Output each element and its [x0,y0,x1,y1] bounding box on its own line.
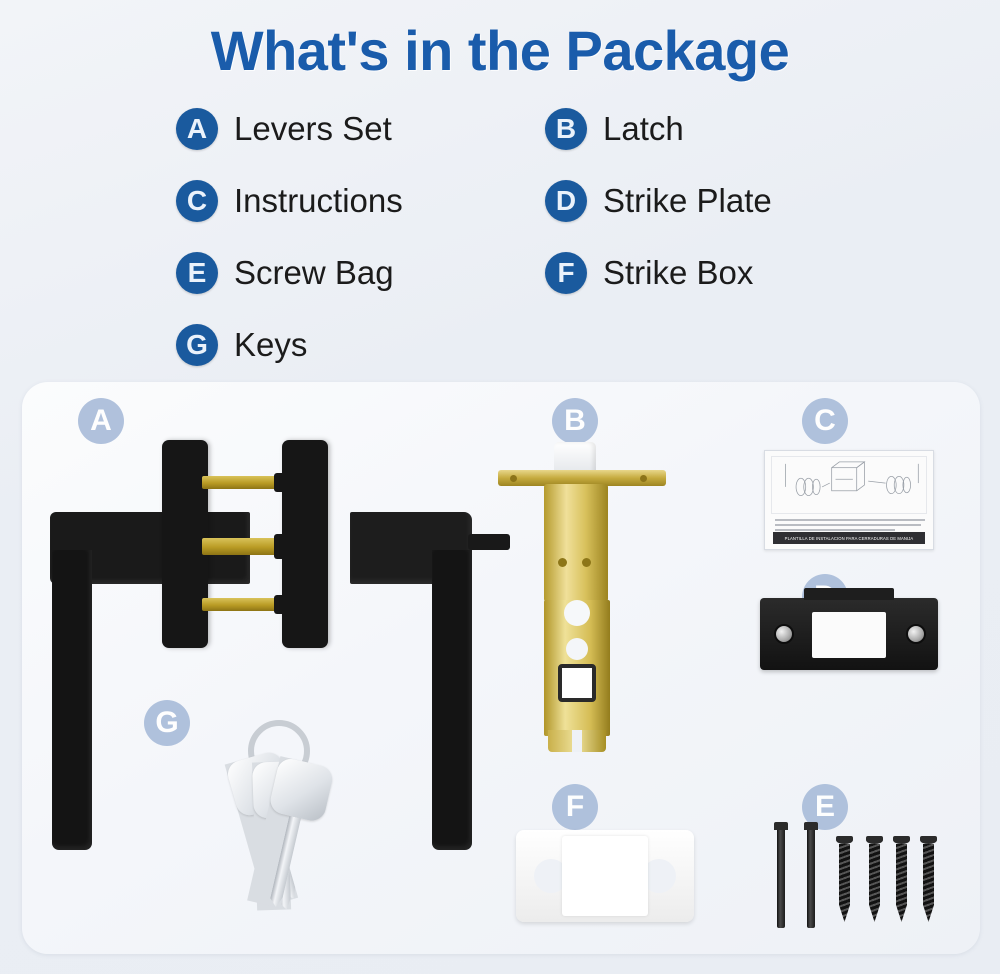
wood-screw-shaft [923,844,934,922]
legend-badge-c: C [176,180,218,222]
machine-screw-head [774,822,788,830]
wood-screw-head [920,836,937,844]
photo-marker-a: A [78,398,124,444]
instructions-text-line-2 [775,524,921,526]
wood-screw-head [836,836,853,844]
legend-label-levers-set: Levers Set [234,110,392,148]
wood-screw-shaft [869,844,880,922]
legend-badge-b: B [545,108,587,150]
product-keys [190,720,370,900]
legend-badge-d: D [545,180,587,222]
wood-screw-shaft [896,844,907,922]
page-title: What's in the Package [0,18,1000,83]
product-photo-panel: A B C D E F G [22,382,980,954]
product-screw-bag [770,820,936,928]
wood-screw-4 [920,836,937,922]
legend-item-instructions: C Instructions [176,180,403,222]
legend-label-instructions: Instructions [234,182,403,220]
legend-item-strike-box: F Strike Box [545,252,753,294]
key-bow [268,756,335,823]
legend-item-levers-set: A Levers Set [176,108,392,150]
wood-screw-head [893,836,910,844]
instructions-text-line-3 [775,529,895,531]
legend-label-keys: Keys [234,326,307,364]
instructions-exploded-diagram-icon [772,457,926,513]
legend-label-screw-bag: Screw Bag [234,254,394,292]
product-strike-plate [760,598,938,670]
instructions-banner: PLANTILLA DE INSTALACION PARA CERRADURAS… [773,532,925,544]
lever-left-arm [52,550,92,850]
latch-barrel [544,484,608,602]
legend-item-screw-bag: E Screw Bag [176,252,394,294]
machine-screw-1 [774,822,788,928]
legend-badge-f: F [545,252,587,294]
legend-badge-e: E [176,252,218,294]
product-latch [492,442,672,772]
product-instructions-card: PLANTILLA DE INSTALACION PARA CERRADURAS… [764,450,934,550]
photo-marker-b: B [552,398,598,444]
wood-screw-3 [893,836,910,922]
product-strike-box [516,830,694,922]
lever-right-arm [432,550,472,850]
strike-plate-cutout [812,612,886,658]
machine-screw-head [804,822,818,830]
instructions-diagram [771,456,927,514]
legend-label-latch: Latch [603,110,684,148]
strike-box-center-face [562,836,648,916]
latch-hole-upper [564,600,590,626]
wood-screw-2 [866,836,883,922]
photo-marker-f: F [552,784,598,830]
legend-list: A Levers Set B Latch C Instructions D St… [0,108,1000,378]
package-contents-infographic: What's in the Package A Levers Set B Lat… [0,0,1000,974]
machine-screw-2 [804,822,818,928]
strike-plate-screw-hole-left [774,624,794,644]
lever-rose-right [282,440,328,648]
latch-hole-lower [566,638,588,660]
legend-badge-g: G [176,324,218,366]
legend-badge-a: A [176,108,218,150]
machine-screw-shaft [777,830,785,928]
machine-screw-shaft [807,830,815,928]
legend-label-strike-box: Strike Box [603,254,753,292]
wood-screw-shaft [839,844,850,922]
latch-spindle-socket [558,664,596,702]
strike-plate-tab [804,588,894,600]
wood-screw-head [866,836,883,844]
latch-prongs [548,730,606,752]
photo-marker-c: C [802,398,848,444]
legend-item-strike-plate: D Strike Plate [545,180,772,222]
wood-screw-1 [836,836,853,922]
legend-item-keys: G Keys [176,324,307,366]
strike-plate-screw-hole-right [906,624,926,644]
legend-label-strike-plate: Strike Plate [603,182,772,220]
instructions-text-line-1 [775,519,925,521]
legend-item-latch: B Latch [545,108,684,150]
